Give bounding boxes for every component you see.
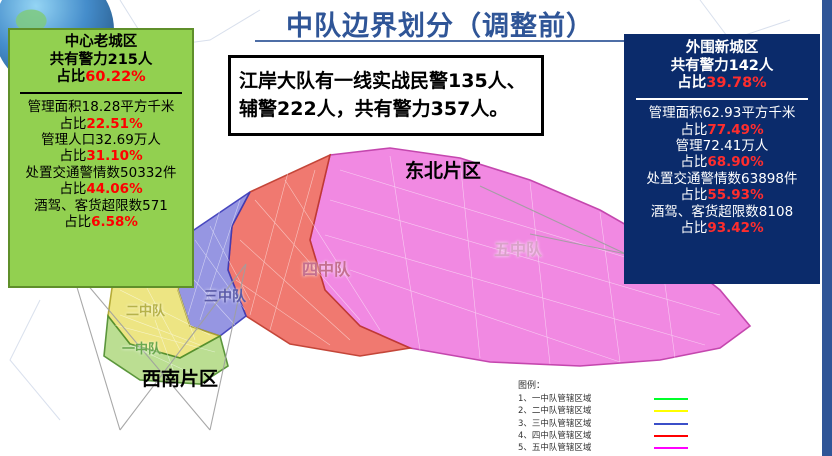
panel-left-row-0-ratio-value: 22.51% — [86, 116, 142, 132]
area-label-northeast: 东北片区 — [405, 156, 481, 183]
legend-item-label: 4、四中队管辖区域 — [518, 430, 650, 442]
legend-item: 2、二中队管辖区域 — [518, 405, 688, 417]
panel-right-force-count: 共有警力142人 — [630, 58, 814, 76]
panel-right-row-3-ratio-label: 占比 — [680, 220, 707, 236]
summary-statement-box: 江岸大队有一线实战民警135人、辅警222人，共有警力357人。 — [228, 55, 544, 136]
area-label-southwest: 西南片区 — [142, 364, 218, 391]
panel-left-row-0-ratio-label: 占比 — [59, 116, 86, 132]
map-label-er-zhongdui: 二中队 — [126, 300, 165, 319]
panel-left-row-2-ratio-value: 44.06% — [86, 181, 142, 197]
panel-left-force-count: 共有警力215人 — [14, 52, 188, 70]
panel-right-row-3-ratio: 占比93.42% — [630, 220, 814, 236]
page-title: 中队边界划分（调整前） — [240, 4, 640, 43]
legend-swatch-yi-zhongdui — [654, 398, 688, 400]
panel-center-old-city: 中心老城区 共有警力215人 占比60.22% 管理面积18.28平方千米 占比… — [8, 28, 194, 288]
panel-right-row-2-ratio: 占比55.93% — [630, 187, 814, 203]
panel-left-row-3-label: 酒驾、客货超限数571 — [14, 198, 188, 214]
panel-right-row-0-ratio: 占比77.49% — [630, 122, 814, 138]
legend-swatch-er-zhongdui — [654, 410, 688, 412]
panel-right-header-ratio-label: 占比 — [677, 75, 706, 91]
legend-swatch-si-zhongdui — [654, 435, 688, 437]
map-label-san-zhongdui: 三中队 — [204, 286, 246, 306]
map-legend: 图例： 1、一中队管辖区域 2、二中队管辖区域 3、三中队管辖区域 4、四中队管… — [518, 378, 688, 455]
panel-right-row-1-label: 管理72.41万人 — [630, 138, 814, 154]
legend-item-label: 5、五中队管辖区域 — [518, 442, 650, 454]
panel-left-row-3-ratio: 占比6.58% — [14, 214, 188, 230]
legend-title: 图例： — [518, 378, 688, 391]
panel-left-row-3-ratio-value: 6.58% — [91, 214, 138, 230]
map-label-si-zhongdui: 四中队 — [302, 256, 350, 280]
panel-right-row-2-label: 处置交通警情数63898件 — [630, 171, 814, 187]
panel-left-header-ratio-value: 60.22% — [85, 69, 145, 85]
panel-left-header-ratio-label: 占比 — [56, 69, 85, 85]
title-underline — [255, 40, 633, 42]
legend-item: 5、五中队管辖区域 — [518, 442, 688, 454]
panel-left-row-2-ratio: 占比44.06% — [14, 181, 188, 197]
panel-right-row-2-ratio-label: 占比 — [680, 187, 707, 203]
panel-outer-new-city: 外围新城区 共有警力142人 占比39.78% 管理面积62.93平方千米 占比… — [624, 34, 820, 284]
panel-right-divider — [636, 98, 808, 100]
legend-swatch-san-zhongdui — [654, 423, 688, 425]
legend-item: 1、一中队管辖区域 — [518, 393, 688, 405]
panel-right-row-3-ratio-value: 93.42% — [707, 220, 763, 236]
map-label-wu-zhongdui: 五中队 — [494, 236, 542, 260]
panel-left-row-3-ratio-label: 占比 — [64, 214, 91, 230]
summary-statement-text: 江岸大队有一线实战民警135人、辅警222人，共有警力357人。 — [231, 68, 541, 123]
legend-swatch-wu-zhongdui — [654, 447, 688, 449]
legend-item: 3、三中队管辖区域 — [518, 418, 688, 430]
panel-left-row-1-ratio-label: 占比 — [59, 148, 86, 164]
panel-right-header-ratio-value: 39.78% — [706, 75, 766, 91]
panel-left-row-0-label: 管理面积18.28平方千米 — [14, 99, 188, 115]
legend-item-label: 3、三中队管辖区域 — [518, 418, 650, 430]
panel-left-row-1-ratio: 占比31.10% — [14, 148, 188, 164]
panel-left-row-1-label: 管理人口32.69万人 — [14, 132, 188, 148]
slide-canvas: 中队边界划分（调整前） 五中队 四中队 三中队 二中队 一中队 — [0, 0, 832, 456]
panel-right-row-1-ratio-value: 68.90% — [707, 154, 763, 170]
panel-left-header-ratio: 占比60.22% — [14, 69, 188, 87]
panel-right-row-3-label: 酒驾、客货超限数8108 — [630, 204, 814, 220]
panel-left-row-0-ratio: 占比22.51% — [14, 116, 188, 132]
panel-right-row-0-label: 管理面积62.93平方千米 — [630, 105, 814, 121]
panel-left-divider — [20, 92, 182, 94]
panel-right-row-2-ratio-value: 55.93% — [707, 187, 763, 203]
panel-right-title: 外围新城区 — [630, 40, 814, 58]
panel-right-row-1-ratio-label: 占比 — [680, 154, 707, 170]
legend-item-label: 1、一中队管辖区域 — [518, 393, 650, 405]
panel-left-title: 中心老城区 — [14, 34, 188, 52]
panel-right-row-1-ratio: 占比68.90% — [630, 154, 814, 170]
right-edge-bar — [822, 0, 832, 456]
panel-right-header-ratio: 占比39.78% — [630, 75, 814, 93]
panel-right-row-0-ratio-value: 77.49% — [707, 122, 763, 138]
panel-left-row-1-ratio-value: 31.10% — [86, 148, 142, 164]
legend-item: 4、四中队管辖区域 — [518, 430, 688, 442]
panel-left-row-2-label: 处置交通警情数50332件 — [14, 165, 188, 181]
legend-item-label: 2、二中队管辖区域 — [518, 405, 650, 417]
panel-right-row-0-ratio-label: 占比 — [680, 122, 707, 138]
map-label-yi-zhongdui: 一中队 — [122, 338, 161, 357]
panel-left-row-2-ratio-label: 占比 — [59, 181, 86, 197]
